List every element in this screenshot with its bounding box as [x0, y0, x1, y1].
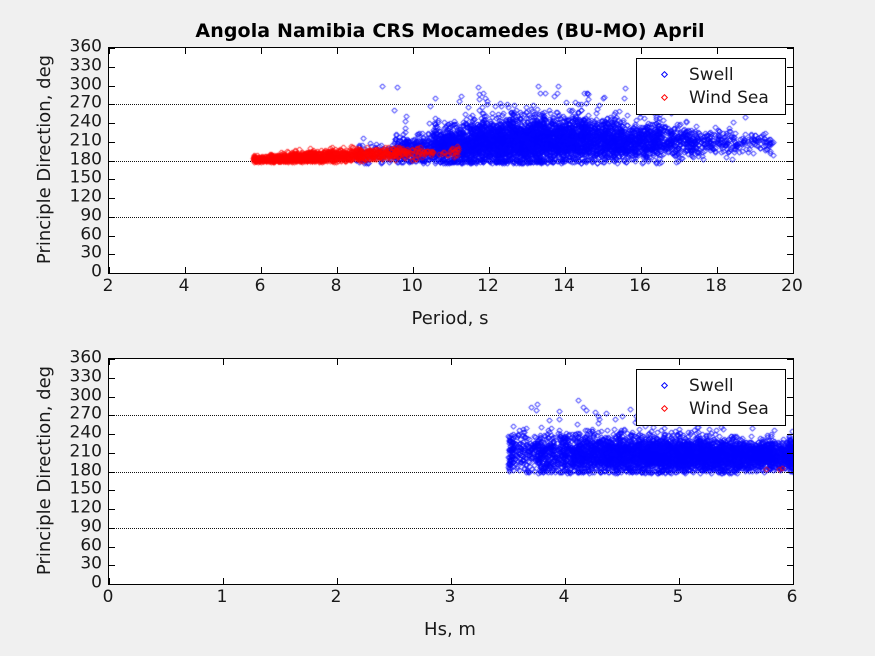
y-tick-0 [787, 273, 793, 274]
legend-label-swell: Swell [683, 376, 775, 396]
legend-entry-swell: Swell [645, 374, 775, 397]
x-tick-labels-hs: 0123456 [108, 589, 792, 613]
x-tick-label-3: 3 [445, 589, 456, 606]
x-tick-6 [793, 359, 794, 365]
page-title: Angola Namibia CRS Mocamedes (BU-MO) Apr… [108, 20, 792, 42]
x-tick-label-0: 0 [103, 589, 114, 606]
x-tick-label-10: 10 [401, 278, 423, 295]
wind-sea-marker-icon [645, 95, 683, 100]
x-tick-label-12: 12 [477, 278, 499, 295]
x-tick-label-16: 16 [629, 278, 651, 295]
y-axis-title-period: Principle Direction, deg [34, 47, 55, 272]
y-tick-0 [109, 273, 115, 274]
y-tick-label-180: 180 [70, 151, 102, 168]
x-tick-label-6: 6 [787, 589, 798, 606]
y-tick-label-240: 240 [70, 114, 102, 131]
legend-label-swell: Swell [683, 65, 775, 85]
x-tick-label-14: 14 [553, 278, 575, 295]
x-tick-label-1: 1 [217, 589, 228, 606]
y-tick-label-120: 120 [70, 189, 102, 206]
swell-marker-icon [645, 383, 683, 388]
panel-period: Angola Namibia CRS Mocamedes (BU-MO) Apr… [0, 0, 875, 330]
y-tick-label-90: 90 [80, 518, 102, 535]
y-tick-label-270: 270 [70, 406, 102, 423]
y-tick-label-360: 360 [70, 39, 102, 56]
y-tick-0 [787, 584, 793, 585]
y-tick-label-180: 180 [70, 462, 102, 479]
y-tick-label-120: 120 [70, 500, 102, 517]
y-tick-label-150: 150 [70, 481, 102, 498]
x-tick-6 [793, 578, 794, 584]
legend-label-wind-sea: Wind Sea [683, 88, 775, 108]
x-tick-label-2: 2 [103, 278, 114, 295]
y-tick-label-270: 270 [70, 95, 102, 112]
x-tick-label-4: 4 [559, 589, 570, 606]
y-tick-label-210: 210 [70, 132, 102, 149]
legend-entry-swell: Swell [645, 63, 775, 86]
x-tick-label-5: 5 [673, 589, 684, 606]
y-tick-label-60: 60 [80, 537, 102, 554]
y-tick-label-240: 240 [70, 425, 102, 442]
legend-entry-wind-sea: Wind Sea [645, 86, 775, 109]
legend-hs[interactable]: Swell Wind Sea [636, 369, 786, 426]
x-axis-title-hs: Hs, m [108, 619, 792, 640]
x-tick-label-2: 2 [331, 589, 342, 606]
x-tick-20 [793, 267, 794, 273]
y-tick-label-0: 0 [91, 264, 102, 281]
swell-marker-icon [645, 72, 683, 77]
y-tick-label-330: 330 [70, 57, 102, 74]
y-tick-label-150: 150 [70, 170, 102, 187]
y-tick-label-0: 0 [91, 575, 102, 592]
panel-hs: 0306090120150180210240270300330360 01234… [0, 311, 875, 656]
y-axis-title-hs: Principle Direction, deg [34, 358, 55, 583]
y-tick-label-300: 300 [70, 76, 102, 93]
x-tick-20 [793, 48, 794, 54]
y-tick-label-210: 210 [70, 443, 102, 460]
x-tick-label-20: 20 [781, 278, 803, 295]
x-tick-label-18: 18 [705, 278, 727, 295]
y-tick-label-300: 300 [70, 387, 102, 404]
y-tick-label-330: 330 [70, 368, 102, 385]
y-tick-0 [109, 584, 115, 585]
y-tick-label-30: 30 [80, 245, 102, 262]
x-tick-label-6: 6 [255, 278, 266, 295]
y-tick-label-360: 360 [70, 350, 102, 367]
wind-sea-marker-icon [645, 406, 683, 411]
figure-canvas: Angola Namibia CRS Mocamedes (BU-MO) Apr… [0, 0, 875, 656]
legend-period[interactable]: Swell Wind Sea [636, 58, 786, 115]
y-tick-label-60: 60 [80, 226, 102, 243]
x-tick-labels-period: 2468101214161820 [108, 278, 792, 302]
y-tick-label-90: 90 [80, 207, 102, 224]
x-tick-label-8: 8 [331, 278, 342, 295]
legend-label-wind-sea: Wind Sea [683, 399, 775, 419]
x-tick-label-4: 4 [179, 278, 190, 295]
y-tick-label-30: 30 [80, 556, 102, 573]
legend-entry-wind-sea: Wind Sea [645, 397, 775, 420]
